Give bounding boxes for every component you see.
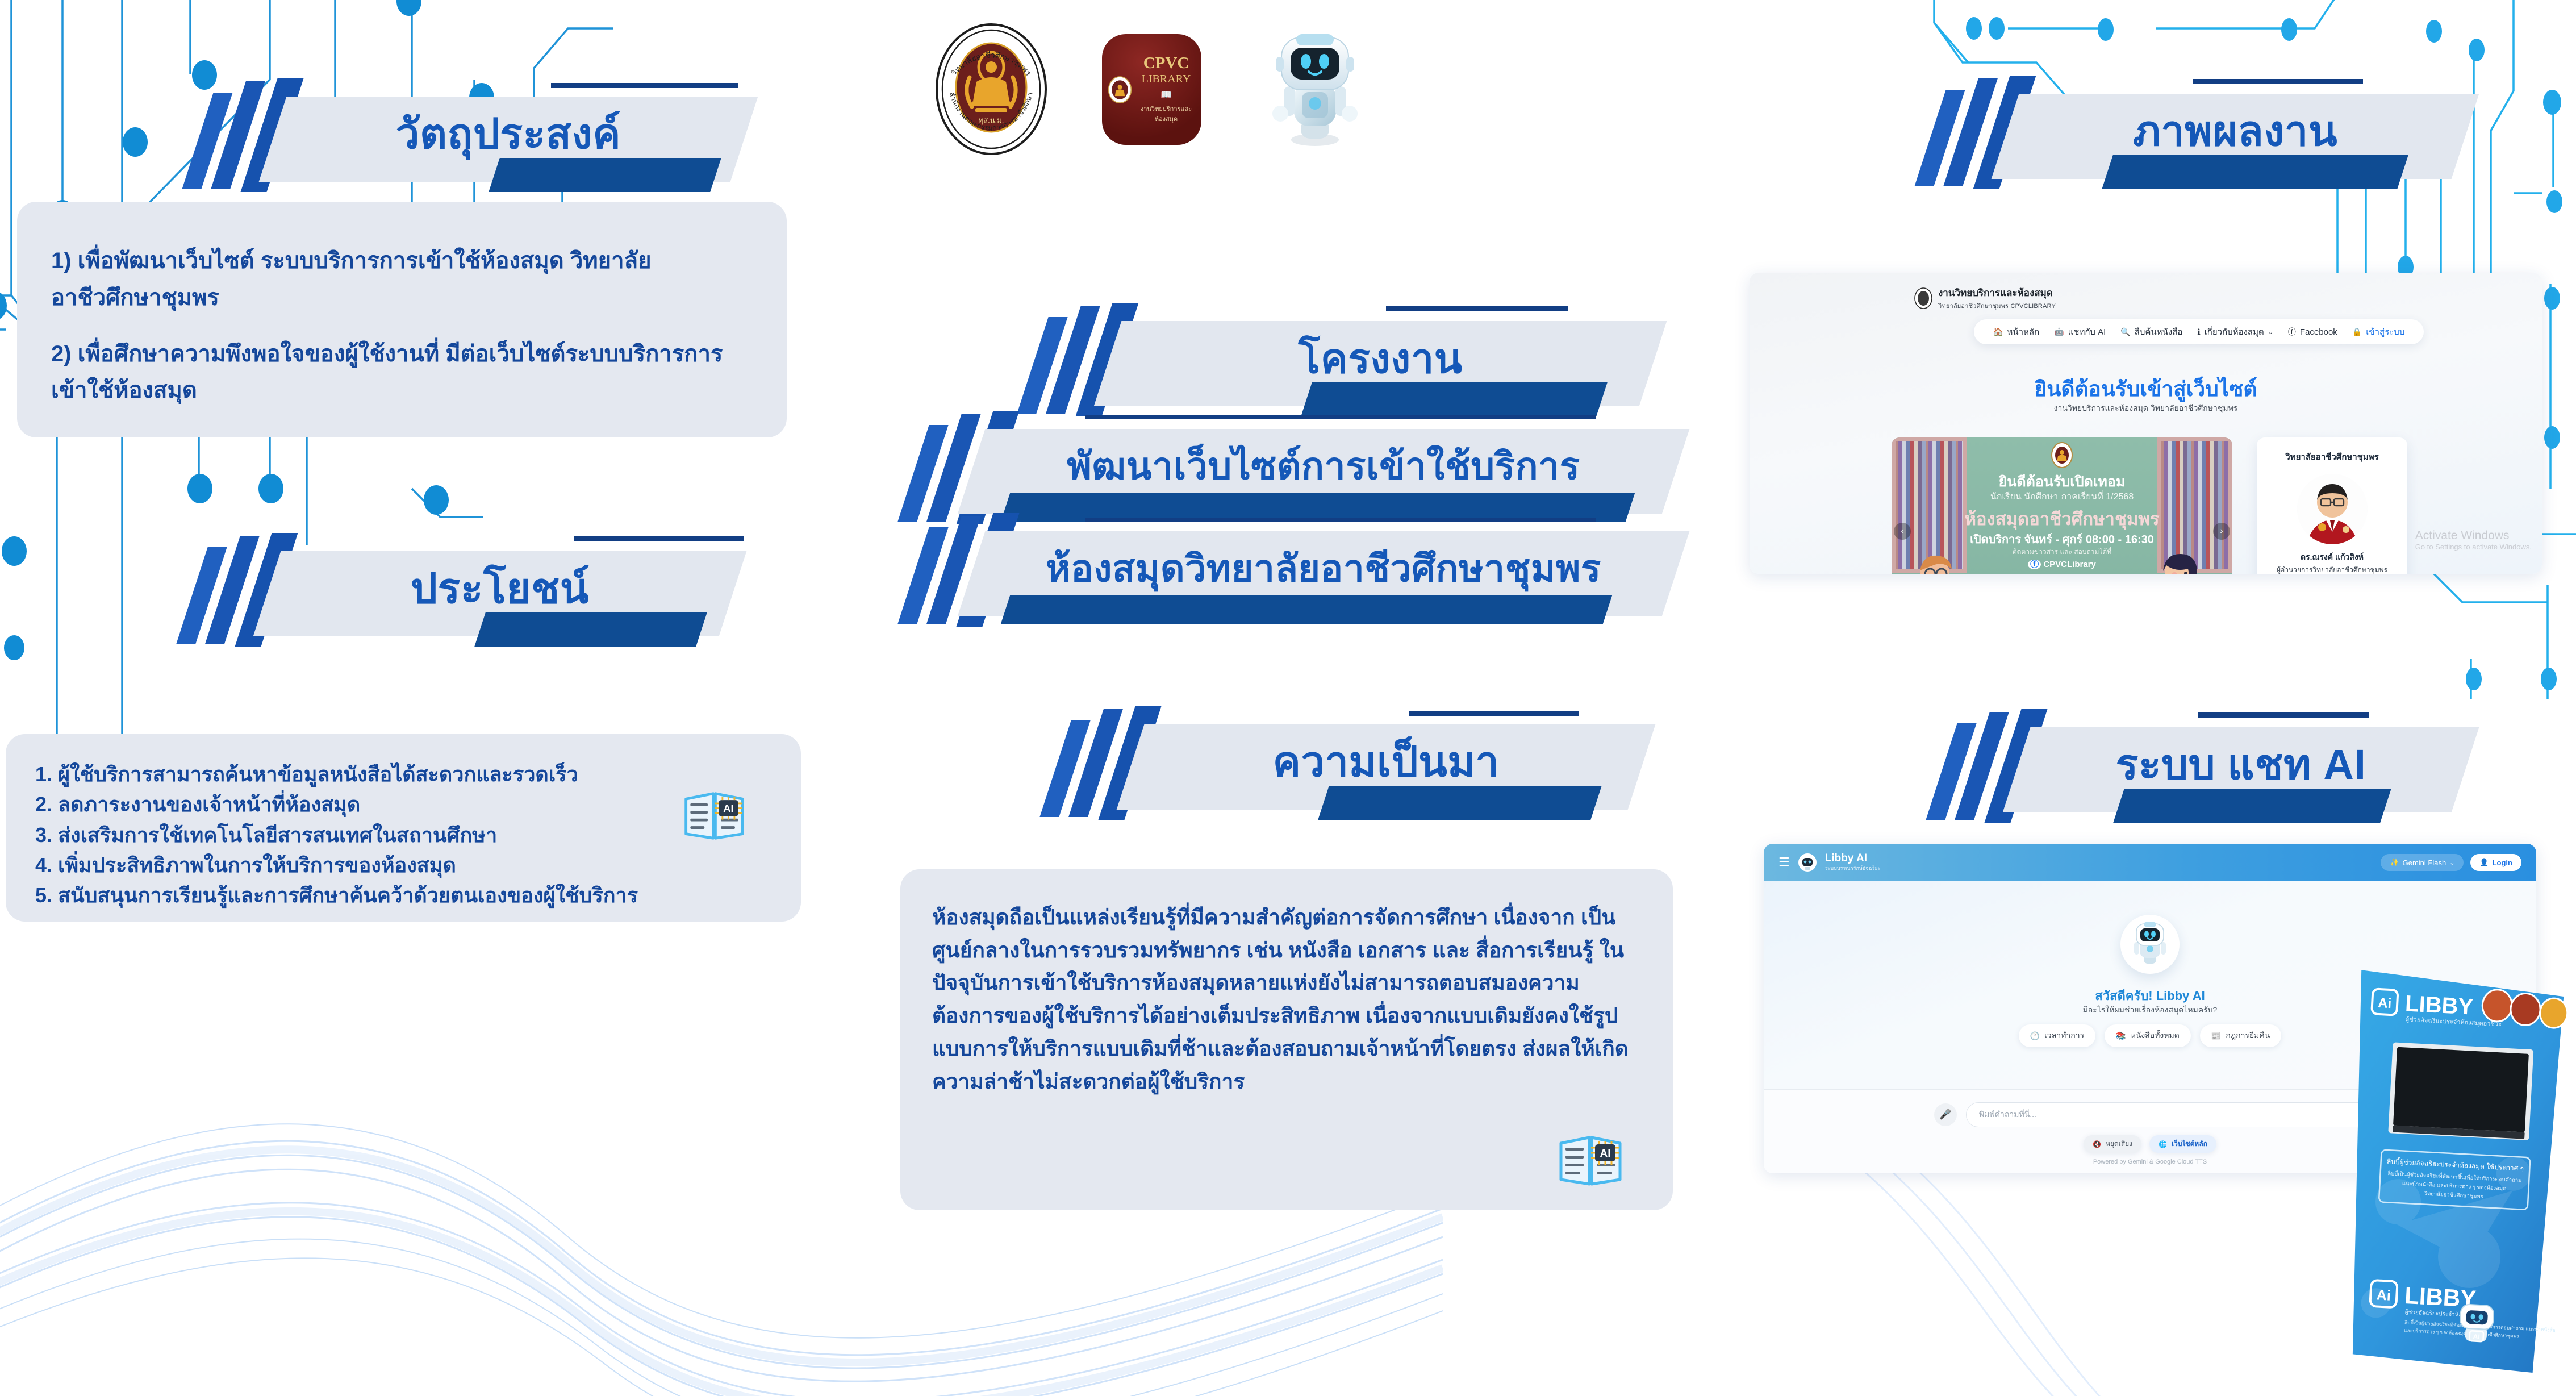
- project-line2-text: ห้องสมุดวิทยาลัยอาชีวศึกษาชุมพร: [971, 526, 1676, 611]
- banner-topline: [574, 536, 744, 541]
- banner-topline: [2193, 79, 2363, 84]
- section-title-chat: ระบบ แชท AI: [2016, 722, 2465, 807]
- section-title-works: ภาพผลงาน: [2005, 88, 2465, 173]
- nav-item-chat-ai[interactable]: 🤖 แชทกับ AI: [2054, 325, 2106, 339]
- carousel-prev-button[interactable]: ‹: [1894, 523, 1911, 540]
- chat-app-header: ☰ Libby AI ระบบบรรณารักษ์อัจฉริยะ ✨ Gemi…: [1764, 844, 2536, 881]
- clock-icon: 🕐: [2030, 1031, 2040, 1041]
- website-screenshot: งานวิทยบริการและห้องสมุด วิทยาลัยอาชีวศึ…: [1750, 273, 2542, 574]
- section-title-project: โครงงาน: [1108, 315, 1653, 401]
- objective-item-1: 1) เพื่อพัฒนาเว็บไซต์ ระบบบริการการเข้าใ…: [51, 243, 753, 316]
- libby-standee: Ai LIBBY ผู้ช่วยอัจฉริยะประจำห้องสมุดอาช…: [2321, 955, 2576, 1387]
- quick-action-label: กฎการยืมคืน: [2226, 1030, 2270, 1042]
- info-icon: ℹ: [2197, 327, 2200, 337]
- banner-topline: [2198, 712, 2369, 718]
- website-brand-title: งานวิทยบริการและห้องสมุด: [1938, 285, 2056, 301]
- website-brand-sub: วิทยาลัยอาชีวศึกษาชุมพร CPVCLIBRARY: [1938, 301, 2056, 311]
- objective-item-2: 2) เพื่อศึกษาความพึงพอใจของผู้ใช้งานที่ …: [51, 336, 753, 410]
- cpvc-title: CPVC: [1137, 55, 1196, 72]
- director-role: ผู้อำนวยการวิทยาลัยอาชีวศึกษาชุมพร: [2277, 565, 2387, 574]
- search-icon: 🔍: [2120, 327, 2130, 337]
- cpvc-caption: งานวิทยบริการและห้องสมุด: [1137, 103, 1196, 124]
- chat-app-subtitle: ระบบบรรณารักษ์อัจฉริยะ: [1825, 864, 1881, 872]
- chat-avatar: [2120, 915, 2180, 974]
- facebook-icon: ⓕ: [2028, 560, 2041, 569]
- banner-topline: [1085, 518, 1596, 522]
- benefit-item-1: 1. ผู้ใช้บริการสามารถค้นหาข้อมูลหนังสือไ…: [35, 759, 771, 789]
- nav-label: Facebook: [2300, 327, 2337, 337]
- svg-text:AI: AI: [723, 803, 733, 814]
- mute-button[interactable]: 🔇 หยุดเสียง: [2084, 1135, 2141, 1153]
- college-seal-logo: ทุส.น.ม. วิทยาลัยอาชีวศึกษาชุมพร สำนักงา…: [934, 23, 1048, 156]
- cpvc-subtitle: LIBRARY: [1137, 72, 1196, 86]
- nav-label: แชทกับ AI: [2068, 325, 2106, 339]
- section-title-benefits: ประโยชน์: [267, 545, 733, 631]
- open-book-icon: 📖: [1137, 89, 1196, 101]
- director-org: วิทยาลัยอาชีวศึกษาชุมพร: [2285, 450, 2378, 464]
- model-label: Gemini Flash: [2403, 859, 2446, 867]
- nav-label: เข้าสู่ระบบ: [2366, 325, 2404, 339]
- promo-line-3: ห้องสมุดอาชีวศึกษาชุมพร: [1892, 505, 2232, 533]
- director-name: ดร.ณรงค์ แก้วสิงห์: [2301, 551, 2364, 564]
- website-navbar[interactable]: 🏠 หน้าหลัก 🤖 แชทกับ AI 🔍 สืบค้นหนังสือ ℹ…: [1974, 319, 2424, 344]
- director-photo: [2296, 473, 2369, 545]
- user-icon: 👤: [2479, 858, 2489, 867]
- objectives-banner: วัตถุประสงค์: [187, 91, 790, 187]
- nav-item-home[interactable]: 🏠 หน้าหลัก: [1993, 325, 2039, 339]
- hamburger-icon[interactable]: ☰: [1778, 855, 1790, 870]
- nav-item-facebook[interactable]: ⓕ Facebook: [2288, 326, 2337, 337]
- chevron-down-icon: ⌄: [2268, 328, 2273, 336]
- globe-label: เว็บไซต์หลัก: [2172, 1139, 2207, 1149]
- watermark-line-1: Activate Windows: [2415, 529, 2532, 543]
- project-line1-banner: พัฒนาเว็บไซต์การเข้าใช้บริการ: [903, 423, 1698, 520]
- benefit-item-4: 4. เพิ่มประสิทธิภาพในการให้บริการของห้อง…: [35, 850, 771, 880]
- promo-carousel[interactable]: ยินดีต้อนรับเปิดเทอม นักเรียน นักศึกษา ภ…: [1892, 437, 2232, 574]
- svg-text:AI: AI: [2473, 1332, 2480, 1341]
- robot-avatar-icon: [1798, 853, 1817, 872]
- nav-item-search-books[interactable]: 🔍 สืบค้นหนังสือ: [2120, 325, 2182, 339]
- rules-icon: 📰: [2211, 1031, 2221, 1041]
- section-title-background: ความเป็นมา: [1130, 719, 1642, 804]
- benefits-banner: ประโยชน์: [182, 545, 784, 642]
- quick-action-all-books[interactable]: 📚 หนังสือทั้งหมด: [2105, 1024, 2191, 1047]
- quick-action-borrow-rules[interactable]: 📰 กฎการยืมคืน: [2200, 1024, 2282, 1047]
- main-website-button[interactable]: 🌐 เว็บไซต์หลัก: [2149, 1135, 2216, 1153]
- promo-fb-label: CPVCLibrary: [2043, 560, 2096, 569]
- seal-small-icon: [1108, 73, 1132, 107]
- standee-brand: LIBBY: [2404, 991, 2474, 1019]
- background-body: ห้องสมุดถือเป็นแหล่งเรียนรู้ที่มีความสำค…: [932, 901, 1641, 1098]
- promo-line-4: เปิดบริการ จันทร์ - ศุกร์ 08:00 - 16:30: [1892, 530, 2232, 548]
- sparkle-icon: ✨: [2390, 858, 2399, 867]
- background-banner: ความเป็นมา: [1045, 719, 1647, 815]
- promo-line-2: นักเรียน นักศึกษา ภาคเรียนที่ 1/2568: [1892, 490, 2232, 504]
- project-line2-banner: ห้องสมุดวิทยาลัยอาชีวศึกษาชุมพร: [903, 526, 1698, 622]
- login-label: Login: [2493, 859, 2512, 867]
- nav-label: เกี่ยวกับห้องสมุด: [2205, 325, 2264, 339]
- globe-icon: 🌐: [2159, 1140, 2167, 1148]
- home-icon: 🏠: [1993, 327, 2003, 337]
- banner-topline: [1085, 415, 1596, 419]
- robot-icon: 🤖: [2054, 327, 2064, 337]
- website-hero-subtitle: งานวิทยบริการและห้องสมุด วิทยาลัยอาชีวศึ…: [1750, 402, 2542, 415]
- quick-action-label: หนังสือทั้งหมด: [2131, 1030, 2180, 1042]
- seal-small-icon: [1914, 287, 1932, 309]
- quick-action-hours[interactable]: 🕐 เวลาทำการ: [2019, 1024, 2095, 1047]
- banner-topline: [551, 83, 738, 88]
- nav-label: หน้าหลัก: [2007, 325, 2039, 339]
- watermark-line-2: Go to Settings to activate Windows.: [2415, 543, 2532, 551]
- facebook-icon: ⓕ: [2288, 326, 2296, 337]
- project-line1-text: พัฒนาเว็บไซต์การเข้าใช้บริการ: [971, 423, 1676, 509]
- chat-input[interactable]: พิมพ์คำถามที่นี่...: [1966, 1102, 2373, 1127]
- mute-icon: 🔇: [2093, 1140, 2101, 1148]
- svg-text:AI: AI: [1600, 1148, 1611, 1160]
- microphone-icon[interactable]: 🎤: [1934, 1103, 1957, 1126]
- benefit-item-5: 5. สนับสนุนการเรียนรู้และการศึกษาค้นคว้า…: [35, 880, 771, 910]
- banner-topline: [1409, 711, 1579, 716]
- website-hero-title: ยินดีต้อนรับเข้าสู่เว็บไซต์: [1750, 372, 2542, 406]
- robot-mascot: [1261, 28, 1369, 148]
- cpvc-library-logo: CPVC LIBRARY 📖 งานวิทยบริการและห้องสมุด: [1102, 34, 1201, 145]
- chevron-down-icon: ⌄: [2449, 859, 2454, 866]
- svg-text:Ai: Ai: [2378, 995, 2392, 1011]
- nav-item-login[interactable]: 🔒 เข้าสู่ระบบ: [2352, 325, 2405, 339]
- books-icon: 📚: [2116, 1031, 2126, 1041]
- nav-item-about-library[interactable]: ℹ เกี่ยวกับห้องสมุด ⌄: [2197, 325, 2273, 339]
- lock-icon: 🔒: [2352, 327, 2362, 337]
- student-illustration-left: [1909, 553, 1982, 574]
- spacer: [51, 316, 753, 336]
- seal-small-icon: [2051, 442, 2073, 468]
- quick-action-label: เวลาทำการ: [2044, 1030, 2084, 1042]
- website-brand: งานวิทยบริการและห้องสมุด วิทยาลัยอาชีวศึ…: [1914, 285, 2056, 311]
- section-title-objectives: วัตถุประสงค์: [273, 91, 744, 176]
- director-card: วิทยาลัยอาชีวศึกษาชุมพร: [2257, 437, 2407, 574]
- mute-label: หยุดเสียง: [2106, 1139, 2132, 1149]
- benefit-item-3: 3. ส่งเสริมการใช้เทคโนโลยีสารสนเทศในสถาน…: [35, 820, 771, 850]
- windows-watermark: Activate Windows Go to Settings to activ…: [2415, 529, 2532, 551]
- banner-topline: [1386, 306, 1568, 311]
- svg-text:Ai: Ai: [2376, 1287, 2391, 1303]
- model-selector-button[interactable]: ✨ Gemini Flash ⌄: [2381, 854, 2464, 871]
- ai-book-icon: AI: [1556, 1131, 1625, 1190]
- student-illustration-right: [2138, 552, 2218, 574]
- chat-banner: ระบบ แชท AI: [1931, 722, 2511, 818]
- poster-canvas: วัตถุประสงค์ 1) เพื่อพัฒนาเว็บไซต์ ระบบบ…: [0, 0, 2576, 1396]
- carousel-next-button[interactable]: ›: [2213, 523, 2230, 540]
- login-button[interactable]: 👤 Login: [2470, 854, 2521, 871]
- benefit-item-2: 2. ลดภาระงานของเจ้าหน้าที่ห้องสมุด: [35, 789, 771, 819]
- chat-app-name: Libby AI: [1825, 853, 1881, 864]
- nav-label: สืบค้นหนังสือ: [2135, 325, 2183, 339]
- robot-icon: [2129, 922, 2171, 967]
- ai-book-icon: AI: [682, 787, 747, 844]
- objectives-card: 1) เพื่อพัฒนาเว็บไซต์ ระบบบริการการเข้าใ…: [17, 202, 787, 437]
- project-banner: โครงงาน: [1022, 315, 1664, 412]
- works-banner: ภาพผลงาน: [1920, 88, 2499, 185]
